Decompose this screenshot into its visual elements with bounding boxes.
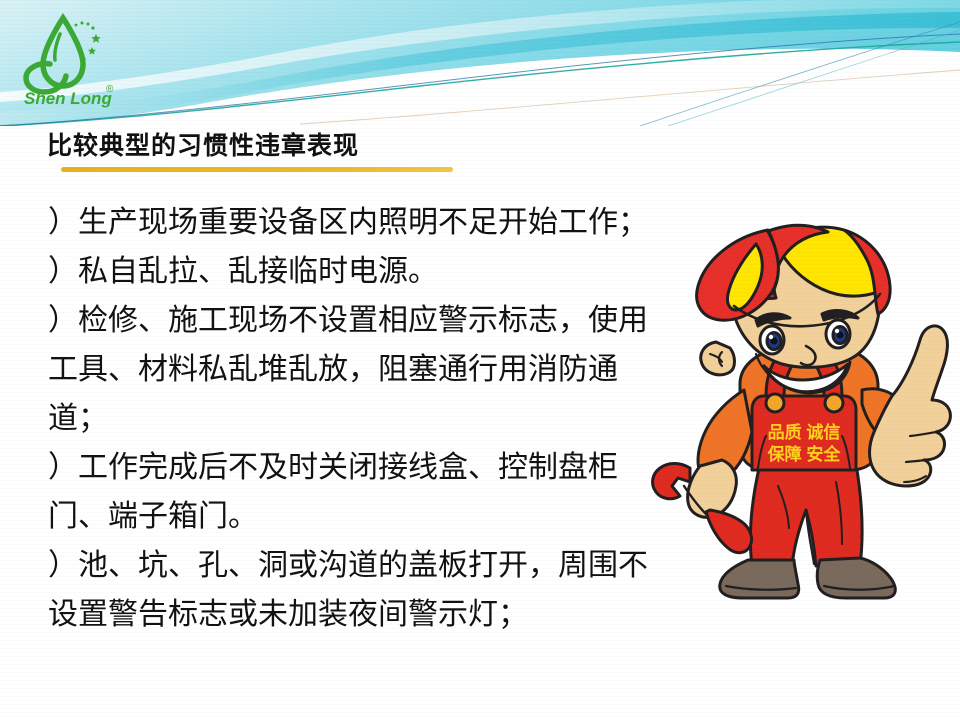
body-line-2: ）私自乱拉、乱接临时电源。 bbox=[48, 247, 673, 296]
worker-mascot-image: 品质 诚信 保障 安全 bbox=[648, 214, 960, 606]
overall-slogan-line-1: 品质 诚信 bbox=[768, 422, 841, 442]
slide: Shen Long ® 比较典型的习惯性违章表现 ）生产现场重要设备区内照明不足… bbox=[0, 0, 960, 720]
wrench-head-lower bbox=[706, 510, 752, 553]
wrench-head-upper bbox=[653, 464, 690, 499]
brand-logo: Shen Long ® bbox=[16, 12, 132, 108]
body-text-block: ）生产现场重要设备区内照明不足开始工作； ）私自乱拉、乱接临时电源。 ）检修、施… bbox=[48, 198, 673, 639]
logo-registered-mark: ® bbox=[106, 84, 114, 95]
strap-button-left bbox=[766, 394, 784, 412]
logo-brand-text: Shen Long bbox=[24, 89, 112, 108]
left-boot bbox=[720, 560, 799, 598]
left-hand bbox=[688, 460, 737, 517]
water-drop-icon bbox=[26, 18, 83, 92]
overall-slogan-line-2: 保障 安全 bbox=[767, 444, 842, 464]
body-line-4: ）工作完成后不及时关闭接线盒、控制盘柜门、端子箱门。 bbox=[48, 443, 673, 541]
body-line-5: ）池、坑、孔、洞或沟道的盖板打开，周围不设置警告标志或未加装夜间警示灯； bbox=[48, 541, 673, 639]
header-banner bbox=[0, 0, 960, 126]
page-title: 比较典型的习惯性违章表现 bbox=[47, 126, 359, 162]
strap-button-right bbox=[825, 394, 843, 412]
right-boot bbox=[817, 558, 895, 598]
title-underline bbox=[61, 167, 453, 172]
body-line-1: ）生产现场重要设备区内照明不足开始工作； bbox=[48, 198, 673, 247]
body-line-3: ）检修、施工现场不设置相应警示标志，使用工具、材料私乱堆乱放，阻塞通行用消防通道… bbox=[48, 296, 673, 443]
